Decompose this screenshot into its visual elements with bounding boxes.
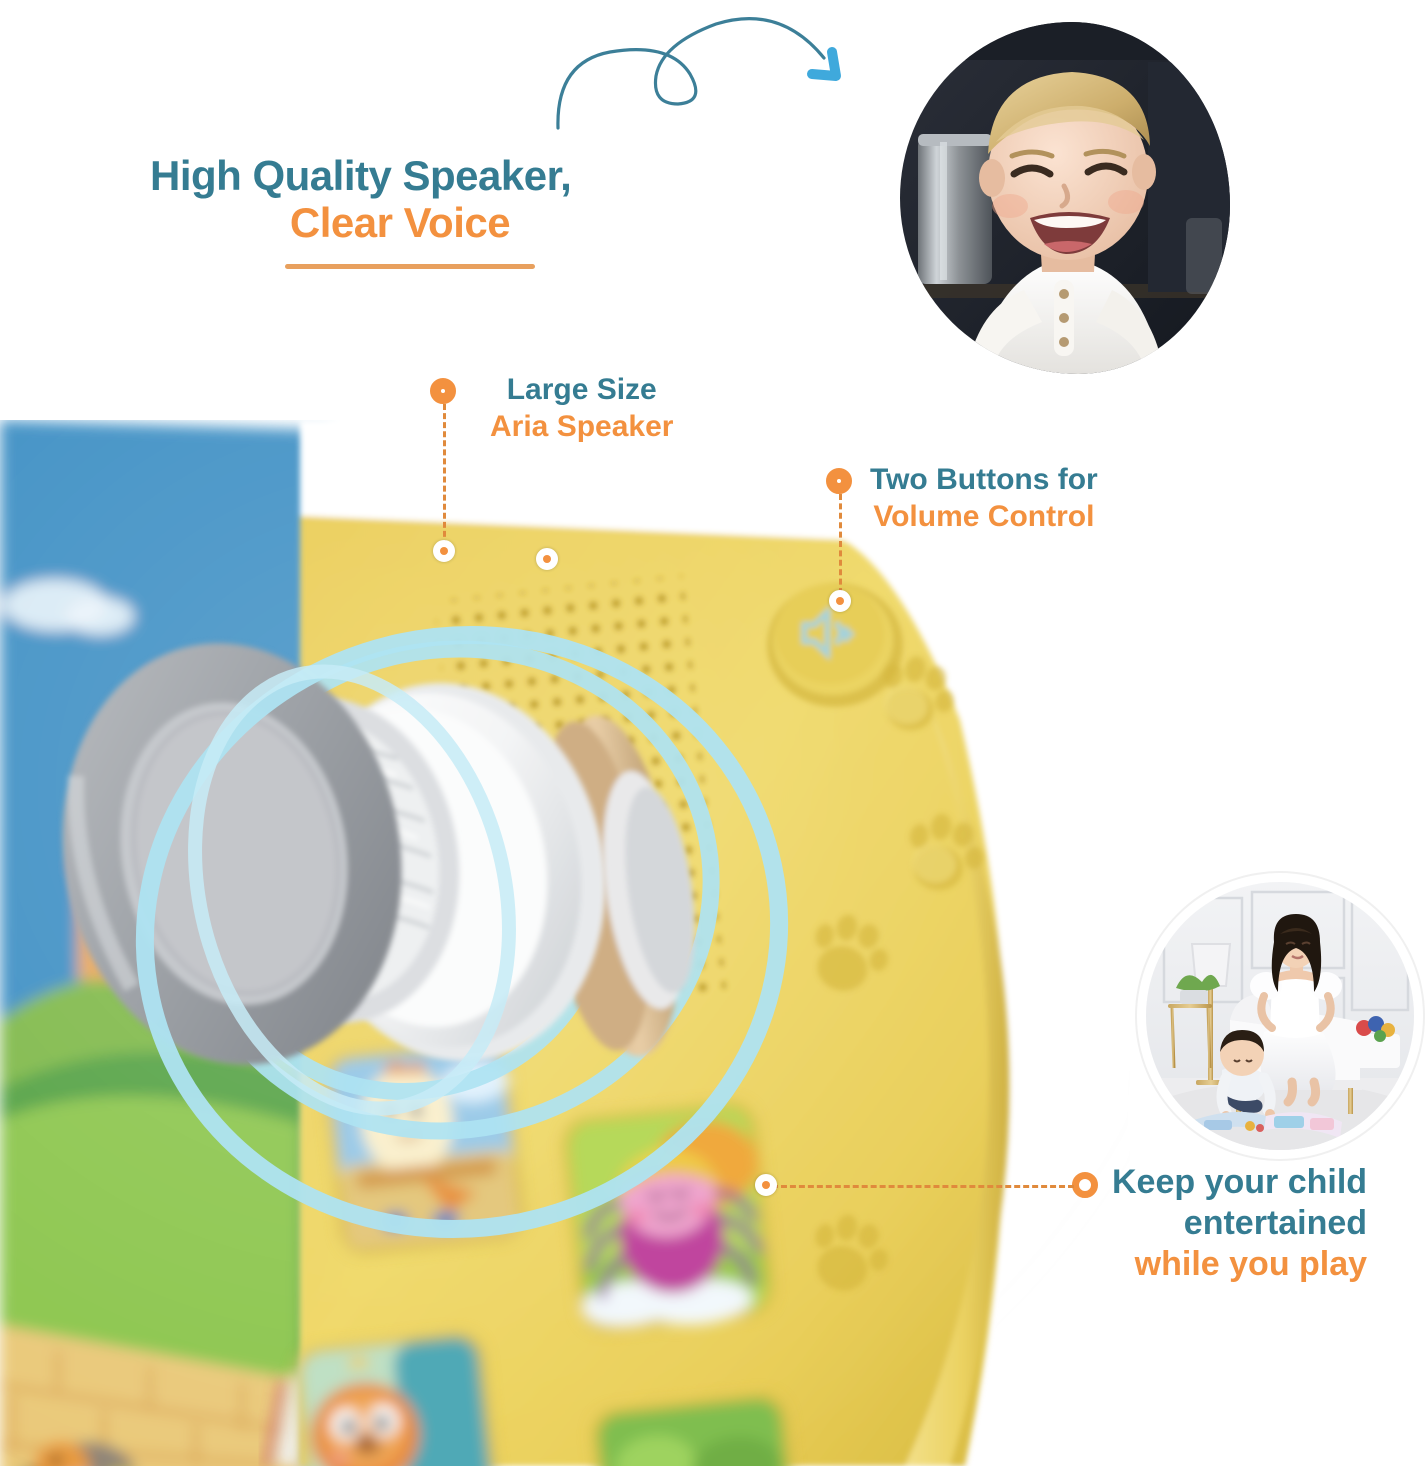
callout-3-connector bbox=[772, 1185, 1074, 1188]
callout-keep-child-entertained: Keep your child entertained while you pl… bbox=[1112, 1162, 1367, 1284]
callout-2-line-2: Volume Control bbox=[870, 499, 1098, 536]
photo-mother-and-child bbox=[1146, 882, 1414, 1150]
callout-2-marker bbox=[826, 468, 852, 494]
page-title: High Quality Speaker, Clear Voice bbox=[150, 152, 770, 269]
headline-line-2: Clear Voice bbox=[150, 199, 770, 246]
callout-3-line-2: entertained bbox=[1112, 1203, 1367, 1244]
photo-happy-toddler bbox=[900, 22, 1230, 374]
callout-2-line-1: Two Buttons for bbox=[870, 462, 1098, 499]
callout-3-marker bbox=[1072, 1172, 1098, 1198]
callout-2-connector bbox=[839, 494, 842, 594]
callout-3-endpoint bbox=[755, 1174, 777, 1196]
callout-3-line-3: while you play bbox=[1112, 1244, 1367, 1285]
headline-underline bbox=[285, 264, 535, 269]
callout-1-line-1: Large Size bbox=[490, 372, 673, 409]
product-photo: G G bbox=[0, 420, 1130, 1466]
callout-2-endpoint bbox=[829, 590, 851, 612]
infographic-canvas: G G bbox=[0, 0, 1426, 1466]
callout-3-line-1: Keep your child bbox=[1112, 1162, 1367, 1203]
callout-1-line-2: Aria Speaker bbox=[490, 409, 673, 446]
callout-two-buttons-volume-control: Two Buttons for Volume Control bbox=[870, 462, 1098, 535]
callout-1-connector bbox=[443, 404, 446, 546]
speaker-secondary-endpoint bbox=[536, 548, 558, 570]
callout-1-marker bbox=[430, 378, 456, 404]
curved-arrow-icon bbox=[540, 0, 880, 150]
callout-1-endpoint bbox=[433, 540, 455, 562]
headline-line-1: High Quality Speaker, bbox=[150, 152, 770, 199]
callout-large-size-aria-speaker: Large Size Aria Speaker bbox=[490, 372, 673, 445]
